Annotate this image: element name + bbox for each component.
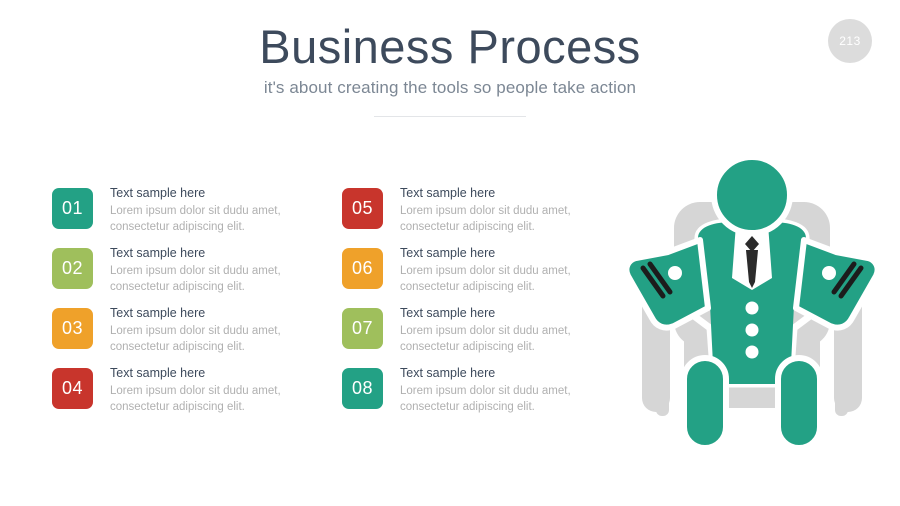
items-column-left: 01 Text sample here Lorem ipsum dolor si… <box>52 184 352 424</box>
item-number-tile: 04 <box>52 368 93 409</box>
item-description: Lorem ipsum dolor sit dudu amet, consect… <box>110 384 295 416</box>
items-column-right: 05 Text sample here Lorem ipsum dolor si… <box>342 184 642 424</box>
page-subtitle: it's about creating the tools so people … <box>0 78 900 98</box>
item-text-block: Text sample here Lorem ipsum dolor sit d… <box>400 304 585 356</box>
item-number-tile: 03 <box>52 308 93 349</box>
jacket-button-1 <box>746 302 759 315</box>
item-description: Lorem ipsum dolor sit dudu amet, consect… <box>400 384 585 416</box>
right-cufflink-dot <box>822 266 836 280</box>
item-title: Text sample here <box>110 365 295 382</box>
item-title: Text sample here <box>110 245 295 262</box>
jacket-button-2 <box>746 324 759 337</box>
list-item[interactable]: 01 Text sample here Lorem ipsum dolor si… <box>52 184 352 244</box>
item-description: Lorem ipsum dolor sit dudu amet, consect… <box>110 264 295 296</box>
item-text-block: Text sample here Lorem ipsum dolor sit d… <box>110 244 295 296</box>
chair-leg-left <box>656 338 669 416</box>
item-text-block: Text sample here Lorem ipsum dolor sit d… <box>400 184 585 236</box>
item-title: Text sample here <box>110 305 295 322</box>
businessman-illustration <box>612 160 892 450</box>
item-description: Lorem ipsum dolor sit dudu amet, consect… <box>110 204 295 236</box>
item-text-block: Text sample here Lorem ipsum dolor sit d… <box>110 184 295 236</box>
chair-leg-right <box>835 338 848 416</box>
head-shape <box>714 160 790 233</box>
left-arm-shape <box>626 240 708 328</box>
page-title: Business Process <box>0 22 900 71</box>
left-cufflink-dot <box>668 266 682 280</box>
left-leg-shape <box>684 358 726 448</box>
item-text-block: Text sample here Lorem ipsum dolor sit d… <box>110 364 295 416</box>
item-number-tile: 08 <box>342 368 383 409</box>
item-description: Lorem ipsum dolor sit dudu amet, consect… <box>400 324 585 356</box>
page-header: Business Process it's about creating the… <box>0 22 900 117</box>
right-arm-shape <box>796 240 878 328</box>
item-number-tile: 05 <box>342 188 383 229</box>
item-number-tile: 01 <box>52 188 93 229</box>
item-text-block: Text sample here Lorem ipsum dolor sit d… <box>400 244 585 296</box>
list-item[interactable]: 08 Text sample here Lorem ipsum dolor si… <box>342 364 642 424</box>
item-number-tile: 07 <box>342 308 383 349</box>
header-divider <box>374 116 526 117</box>
item-number-tile: 06 <box>342 248 383 289</box>
list-item[interactable]: 05 Text sample here Lorem ipsum dolor si… <box>342 184 642 244</box>
item-title: Text sample here <box>400 305 585 322</box>
item-number-tile: 02 <box>52 248 93 289</box>
item-text-block: Text sample here Lorem ipsum dolor sit d… <box>110 304 295 356</box>
item-description: Lorem ipsum dolor sit dudu amet, consect… <box>400 264 585 296</box>
list-item[interactable]: 03 Text sample here Lorem ipsum dolor si… <box>52 304 352 364</box>
item-title: Text sample here <box>400 365 585 382</box>
list-item[interactable]: 02 Text sample here Lorem ipsum dolor si… <box>52 244 352 304</box>
list-item[interactable]: 07 Text sample here Lorem ipsum dolor si… <box>342 304 642 364</box>
list-item[interactable]: 04 Text sample here Lorem ipsum dolor si… <box>52 364 352 424</box>
item-description: Lorem ipsum dolor sit dudu amet, consect… <box>400 204 585 236</box>
jacket-button-3 <box>746 346 759 359</box>
right-leg-shape <box>778 358 820 448</box>
item-text-block: Text sample here Lorem ipsum dolor sit d… <box>400 364 585 416</box>
item-title: Text sample here <box>400 245 585 262</box>
item-description: Lorem ipsum dolor sit dudu amet, consect… <box>110 324 295 356</box>
list-item[interactable]: 06 Text sample here Lorem ipsum dolor si… <box>342 244 642 304</box>
item-title: Text sample here <box>400 185 585 202</box>
item-title: Text sample here <box>110 185 295 202</box>
